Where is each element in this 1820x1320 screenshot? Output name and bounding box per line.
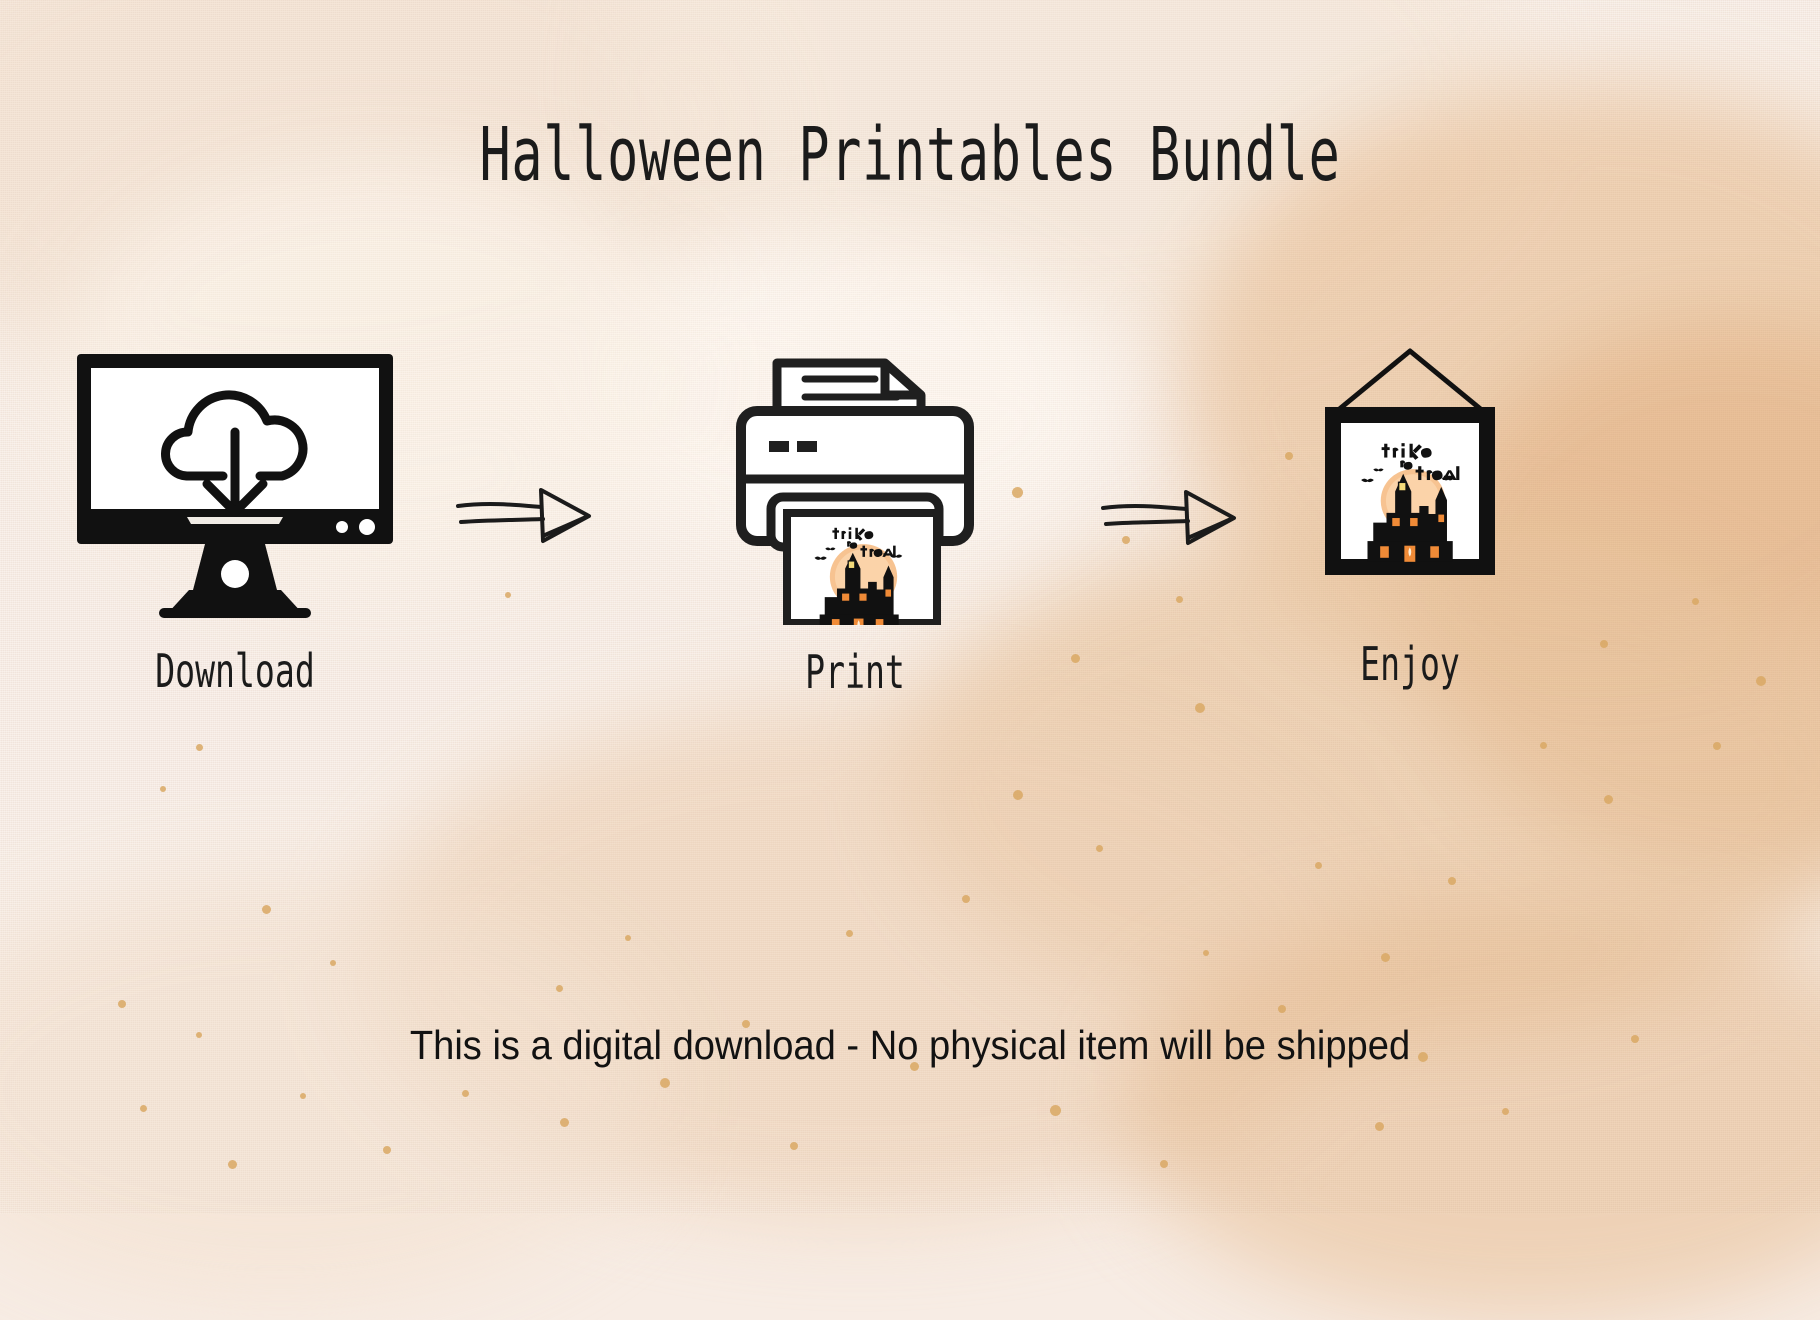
step-label-enjoy: Enjoy bbox=[1342, 637, 1479, 691]
step-print: Print bbox=[735, 345, 975, 625]
page-title: Halloween Printables Bundle bbox=[273, 118, 1547, 192]
hand-drawn-arrow-right-icon bbox=[455, 480, 595, 550]
digital-download-disclaimer: This is a digital download - No physical… bbox=[64, 1022, 1757, 1069]
step-download: Download bbox=[75, 352, 395, 622]
monitor-cloud-download-icon bbox=[75, 352, 395, 622]
arrow-print-to-enjoy bbox=[1100, 482, 1240, 556]
step-label-print: Print bbox=[769, 645, 942, 699]
step-enjoy: Enjoy bbox=[1315, 345, 1505, 595]
step-label-download: Download bbox=[120, 644, 350, 698]
hand-drawn-arrow-right-icon bbox=[1100, 482, 1240, 552]
printer-icon bbox=[735, 345, 975, 625]
arrow-download-to-print bbox=[455, 480, 595, 554]
hanging-picture-frame-icon bbox=[1315, 345, 1505, 595]
